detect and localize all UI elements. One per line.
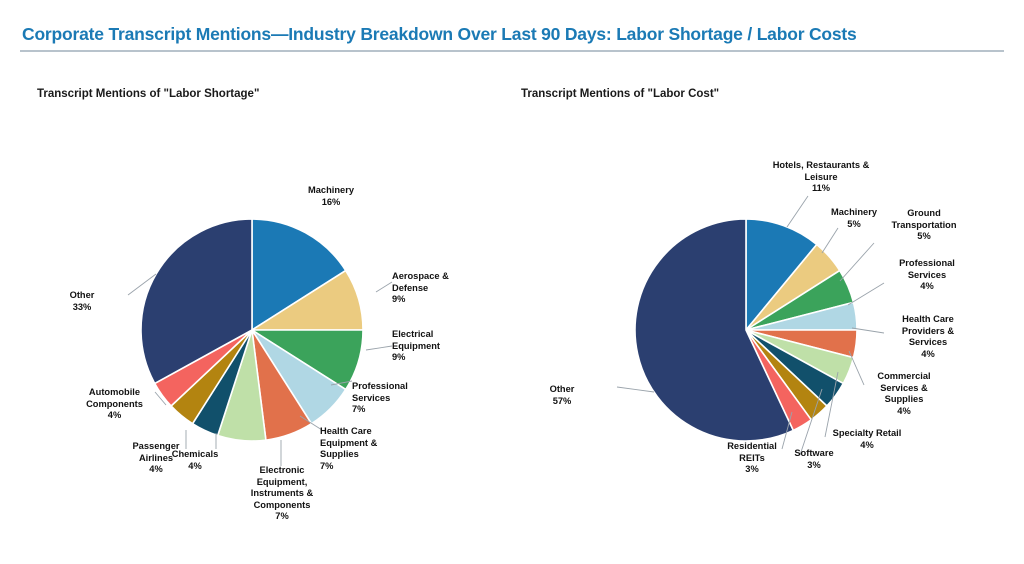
page-title: Corporate Transcript Mentions—Industry B… <box>22 24 857 45</box>
label-percent: 33% <box>50 302 114 314</box>
label-right-health-care-providers-services: Health CareProviders &Services4% <box>884 314 972 360</box>
chart-heading-labor-cost: Transcript Mentions of "Labor Cost" <box>521 88 719 100</box>
label-line: Hotels, Restaurants & <box>742 160 900 172</box>
label-line: Services <box>884 337 972 349</box>
label-line: Aerospace & <box>392 271 502 283</box>
label-left-electronic-equipment-instruments-components: ElectronicEquipment,Instruments &Compone… <box>227 465 337 523</box>
pie-slice[interactable] <box>252 330 346 424</box>
label-line: Defense <box>392 283 502 295</box>
label-percent: 7% <box>227 511 337 523</box>
label-line: Residential <box>715 441 789 453</box>
label-line: Automobile <box>63 387 166 399</box>
label-percent: 7% <box>352 404 454 416</box>
label-line: Health Care <box>320 426 422 438</box>
leader-line <box>787 196 808 227</box>
pie-slice[interactable] <box>155 330 252 406</box>
label-right-commercial-services-supplies: CommercialServices &Supplies4% <box>862 371 946 417</box>
label-right-ground-transportation: GroundTransportation5% <box>878 208 970 243</box>
label-line: Transportation <box>878 220 970 232</box>
leader-line <box>376 282 392 292</box>
pie-slice[interactable] <box>746 302 857 330</box>
label-line: Supplies <box>862 394 946 406</box>
pie-slice[interactable] <box>746 330 827 420</box>
label-line: Commercial <box>862 371 946 383</box>
label-line: Electrical <box>392 329 502 341</box>
label-line: Leisure <box>742 172 900 184</box>
label-percent: 5% <box>878 231 970 243</box>
label-percent: 9% <box>392 352 502 364</box>
label-line: Equipment, <box>227 477 337 489</box>
label-line: Other <box>538 384 586 396</box>
label-percent: 4% <box>884 349 972 361</box>
title-divider <box>20 50 1004 52</box>
label-line: Other <box>50 290 114 302</box>
label-percent: 4% <box>862 406 946 418</box>
leader-line <box>800 389 822 455</box>
pie-slice[interactable] <box>746 330 843 406</box>
leader-line <box>848 283 884 305</box>
label-right-other: Other57% <box>538 384 586 407</box>
leader-line <box>840 243 874 281</box>
label-line: Health Care <box>884 314 972 326</box>
pie-slice[interactable] <box>635 219 793 441</box>
label-line: Components <box>227 500 337 512</box>
pie-slice[interactable] <box>252 219 346 330</box>
label-right-software: Software3% <box>788 448 840 471</box>
pie-slice[interactable] <box>141 219 252 383</box>
pie-slice[interactable] <box>252 330 363 389</box>
leader-line <box>300 416 322 430</box>
label-percent: 3% <box>715 464 789 476</box>
label-left-automobile-components: AutomobileComponents4% <box>63 387 166 422</box>
label-line: Professional <box>884 258 970 270</box>
leader-line <box>852 328 884 333</box>
label-percent: 4% <box>63 410 166 422</box>
label-left-other: Other33% <box>50 290 114 313</box>
label-line: Ground <box>878 208 970 220</box>
label-percent: 3% <box>788 460 840 472</box>
pie-slice[interactable] <box>171 330 252 424</box>
leader-line <box>822 228 838 253</box>
pie-slice[interactable] <box>218 330 266 441</box>
label-line: REITs <box>715 453 789 465</box>
pie-slice[interactable] <box>746 330 811 430</box>
leader-line <box>617 387 654 392</box>
label-line: Professional <box>352 381 454 393</box>
pie-slice[interactable] <box>746 330 854 383</box>
leader-line <box>366 346 392 350</box>
label-line: Components <box>63 399 166 411</box>
label-percent: 11% <box>742 183 900 195</box>
label-line: Services <box>352 393 454 405</box>
label-left-professional-services: ProfessionalServices7% <box>352 381 454 416</box>
label-left-passenger-airlines: PassengerAirlines4% <box>119 441 193 476</box>
pie-slice[interactable] <box>746 330 857 358</box>
charts-canvas <box>0 0 1024 564</box>
pie-slice[interactable] <box>252 271 363 330</box>
label-left-machinery: Machinery16% <box>276 185 386 208</box>
label-line: Supplies <box>320 449 422 461</box>
label-percent: 57% <box>538 396 586 408</box>
label-line: Specialty Retail <box>824 428 910 440</box>
pie-charts-svg <box>0 0 1024 564</box>
label-line: Airlines <box>119 453 193 465</box>
label-line: Electronic <box>227 465 337 477</box>
label-percent: 4% <box>884 281 970 293</box>
label-line: Machinery <box>276 185 386 197</box>
pie-slice[interactable] <box>746 271 854 330</box>
label-line: Services & <box>862 383 946 395</box>
leader-lines-labor-cost <box>617 196 884 455</box>
label-right-hotels-restaurants-leisure: Hotels, Restaurants &Leisure11% <box>742 160 900 195</box>
pie-slice[interactable] <box>746 219 817 330</box>
pie-slice[interactable] <box>746 244 840 330</box>
chart-heading-labor-shortage: Transcript Mentions of "Labor Shortage" <box>37 88 259 100</box>
pie-chart-labor-cost <box>635 219 857 441</box>
label-line: Equipment <box>392 341 502 353</box>
label-percent: 9% <box>392 294 502 306</box>
label-right-residential-reits: ResidentialREITs3% <box>715 441 789 476</box>
label-percent: 16% <box>276 197 386 209</box>
label-right-professional-services: ProfessionalServices4% <box>884 258 970 293</box>
pie-chart-labor-shortage <box>141 219 363 441</box>
label-line: Instruments & <box>227 488 337 500</box>
label-line: Services <box>884 270 970 282</box>
label-line: Providers & <box>884 326 972 338</box>
leader-line <box>128 274 156 295</box>
label-percent: 4% <box>119 464 193 476</box>
pie-slice[interactable] <box>252 330 311 440</box>
pie-slice[interactable] <box>193 330 252 436</box>
label-left-aerospace-defense: Aerospace &Defense9% <box>392 271 502 306</box>
label-line: Software <box>788 448 840 460</box>
label-left-electrical-equipment: ElectricalEquipment9% <box>392 329 502 364</box>
leader-line <box>331 381 352 385</box>
label-line: Passenger <box>119 441 193 453</box>
label-line: Equipment & <box>320 438 422 450</box>
